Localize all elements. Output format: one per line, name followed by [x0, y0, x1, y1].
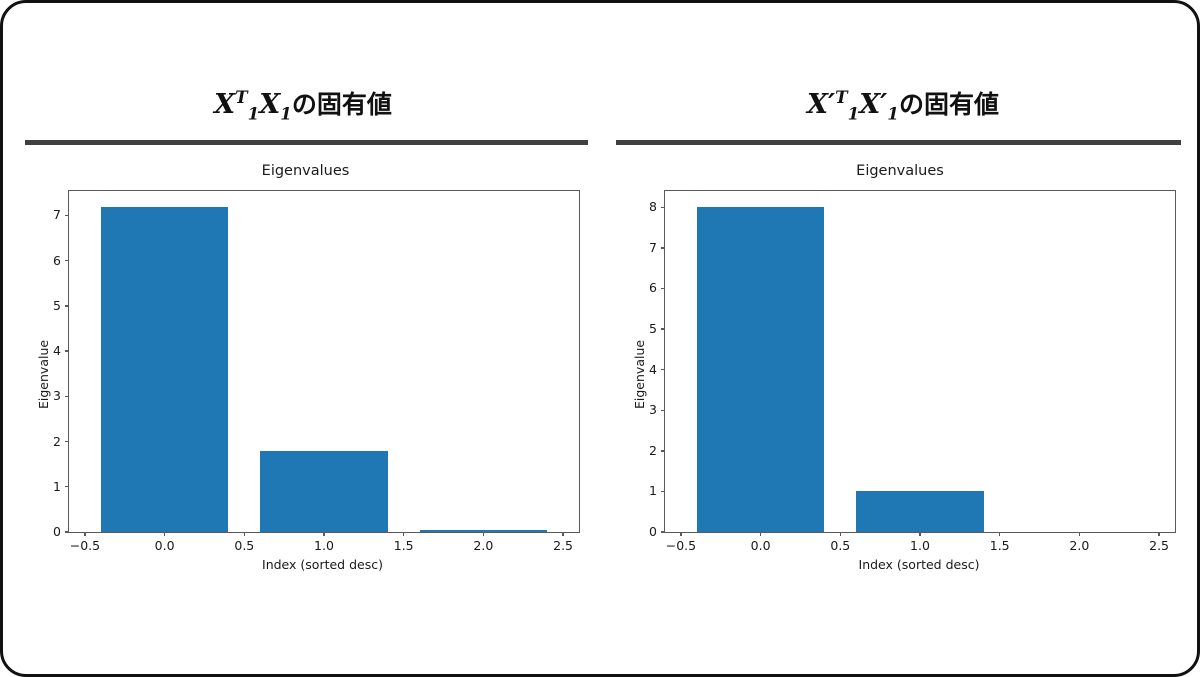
y-tick-mark: [661, 369, 665, 370]
y-tick-label: 5: [53, 298, 61, 313]
y-tick-label: 3: [53, 388, 61, 403]
x-tick-label: 0.5: [830, 538, 850, 553]
y-tick-label: 7: [53, 207, 61, 222]
x-tick-mark: [1158, 532, 1159, 536]
title-suffix-right: の固有値: [899, 90, 999, 119]
x-tick-label: 1.5: [394, 538, 414, 553]
x-tick-mark: [680, 532, 681, 536]
y-tick-label: 6: [53, 253, 61, 268]
x-tick-mark: [999, 532, 1000, 536]
y-tick-label: 4: [649, 362, 657, 377]
bar-series-left: [69, 191, 579, 532]
y-axis-label-left: Eigenvalue: [36, 340, 51, 409]
x-tick-label: 2.5: [1149, 538, 1169, 553]
y-tick-label: 8: [649, 199, 657, 214]
panel-left-divider: [25, 140, 588, 145]
y-tick-mark: [661, 410, 665, 411]
chart-title-right: Eigenvalues: [615, 163, 1185, 179]
x-tick-label: 0.0: [751, 538, 771, 553]
y-tick-mark: [65, 350, 69, 351]
x-tick-label: −0.5: [70, 538, 100, 553]
x-tick-mark: [164, 532, 165, 536]
x-tick-mark: [244, 532, 245, 536]
chart-title-left: Eigenvalues: [23, 163, 588, 179]
bar-series-right: [665, 191, 1175, 532]
x-tick-mark: [323, 532, 324, 536]
x-tick-mark: [760, 532, 761, 536]
y-tick-mark: [65, 260, 69, 261]
x-tick-label: 0.5: [234, 538, 254, 553]
y-tick-label: 2: [649, 443, 657, 458]
y-tick-mark: [65, 305, 69, 306]
panel-left: XT1X1の固有値 Eigenvalues Eigenvalue 0123456…: [3, 3, 603, 677]
y-tick-mark: [65, 441, 69, 442]
x-tick-mark: [483, 532, 484, 536]
x-tick-label: 2.0: [1069, 538, 1089, 553]
panel-right-title: X′T1X′1の固有値: [603, 91, 1200, 118]
y-tick-mark: [661, 531, 665, 532]
bar-0: [697, 207, 825, 532]
y-tick-mark: [661, 288, 665, 289]
panel-right-divider: [616, 140, 1181, 145]
y-tick-label: 0: [649, 524, 657, 539]
x-tick-label: 1.5: [990, 538, 1010, 553]
plot-area-left: 01234567−0.50.00.51.01.52.02.5: [68, 190, 580, 533]
y-tick-label: 3: [649, 402, 657, 417]
x-tick-label: 1.0: [910, 538, 930, 553]
y-tick-label: 4: [53, 343, 61, 358]
x-tick-label: 0.0: [155, 538, 175, 553]
y-tick-label: 5: [649, 321, 657, 336]
y-tick-mark: [661, 491, 665, 492]
panel-left-title: XT1X1の固有値: [3, 91, 603, 118]
y-tick-label: 1: [53, 479, 61, 494]
y-tick-mark: [661, 328, 665, 329]
y-tick-mark: [661, 450, 665, 451]
x-tick-mark: [840, 532, 841, 536]
panel-right: X′T1X′1の固有値 Eigenvalues Eigenvalue 01234…: [603, 3, 1200, 677]
y-tick-mark: [661, 207, 665, 208]
x-tick-mark: [562, 532, 563, 536]
title-suffix-left: の固有値: [292, 90, 392, 119]
x-tick-label: 1.0: [314, 538, 334, 553]
x-axis-label-right: Index (sorted desc): [615, 557, 1185, 572]
y-tick-mark: [65, 215, 69, 216]
y-tick-mark: [65, 396, 69, 397]
x-tick-mark: [919, 532, 920, 536]
y-tick-mark: [65, 531, 69, 532]
x-tick-mark: [1079, 532, 1080, 536]
bar-1: [856, 491, 984, 532]
plot-area-right: 012345678−0.50.00.51.01.52.02.5: [664, 190, 1176, 533]
figure-right: Eigenvalues Eigenvalue 012345678−0.50.00…: [615, 163, 1185, 578]
y-tick-label: 2: [53, 434, 61, 449]
figure-left: Eigenvalues Eigenvalue 01234567−0.50.00.…: [23, 163, 588, 578]
y-tick-label: 0: [53, 524, 61, 539]
y-tick-label: 6: [649, 280, 657, 295]
x-tick-mark: [84, 532, 85, 536]
title-math-left: XT1X1: [214, 89, 292, 120]
x-tick-label: 2.5: [553, 538, 573, 553]
y-tick-label: 7: [649, 240, 657, 255]
bar-0: [101, 207, 229, 532]
bar-1: [260, 451, 388, 532]
x-tick-mark: [403, 532, 404, 536]
y-tick-mark: [65, 486, 69, 487]
y-tick-label: 1: [649, 483, 657, 498]
slide-canvas: XT1X1の固有値 Eigenvalues Eigenvalue 0123456…: [0, 0, 1200, 677]
x-axis-label-left: Index (sorted desc): [23, 557, 588, 572]
x-tick-label: −0.5: [666, 538, 696, 553]
y-tick-mark: [661, 247, 665, 248]
x-tick-label: 2.0: [473, 538, 493, 553]
title-math-right: X′T1X′1: [807, 89, 899, 120]
y-axis-label-right: Eigenvalue: [632, 340, 647, 409]
